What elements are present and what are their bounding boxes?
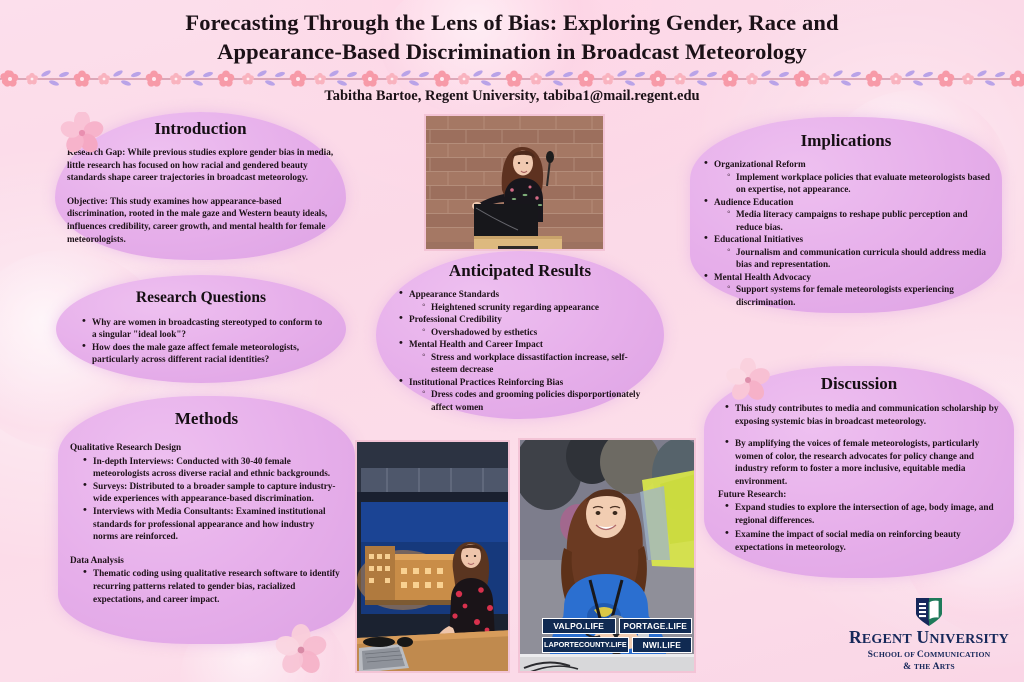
- list-item-label: Audience Education: [714, 197, 793, 207]
- introduction-title: Introduction: [55, 119, 346, 139]
- page-title-line-1: Forecasting Through the Lens of Bias: Ex…: [112, 8, 912, 37]
- logo-university-name: REGENT UNIVERSITY: [846, 628, 1012, 649]
- discussion-title: Discussion: [704, 374, 1014, 394]
- logo-sub2-rts: RTS: [940, 662, 955, 671]
- list-item-label: Institutional Practices Reinforcing Bias: [409, 377, 563, 387]
- sub-list: Media literacy campaigns to reshape publ…: [727, 208, 992, 233]
- methods-section-1-heading: Qualitative Research Design: [70, 441, 341, 454]
- methods-body: Qualitative Research Design In-depth Int…: [58, 429, 355, 605]
- page-title-line-2: Appearance-Based Discrimination in Broad…: [112, 37, 912, 66]
- author-line: Tabitha Bartoe, Regent University, tabib…: [0, 88, 1024, 105]
- anticipated-results-list: Appearance Standards Heightened scrunity…: [399, 288, 648, 413]
- sub-list-item: Implement workplace policies that evalua…: [727, 171, 992, 196]
- panel-introduction: Introduction Research Gap: While previou…: [55, 112, 346, 260]
- list-item: Surveys: Distributed to a broader sample…: [83, 480, 341, 505]
- introduction-body: Research Gap: While previous studies exp…: [55, 139, 346, 245]
- panel-anticipated-results: Anticipated Results Appearance Standards…: [376, 251, 664, 419]
- logo-sub2-a: A: [933, 661, 940, 672]
- logo-name-u: U: [916, 627, 929, 647]
- list-item-label: Organizational Reform: [714, 159, 806, 169]
- photo-news-desk-anchor: [355, 440, 510, 673]
- sub-list-item: Dress codes and grooming policies dispor…: [422, 388, 648, 413]
- methods-section-2-heading: Data Analysis: [70, 554, 341, 567]
- list-item-label: Professional Credibility: [409, 314, 502, 324]
- sub-list: Stress and workplace dissastifaction inc…: [422, 351, 648, 376]
- sub-list: Dress codes and grooming policies dispor…: [422, 388, 648, 413]
- research-questions-body: Why are women in broadcasting stereotype…: [56, 307, 346, 366]
- anticipated-results-title: Anticipated Results: [376, 261, 664, 281]
- logo-name-r: R: [849, 627, 862, 647]
- list-item: Thematic coding using qualitative resear…: [83, 567, 341, 605]
- floral-divider: [0, 67, 1024, 89]
- research-questions-list: Why are women in broadcasting stereotype…: [82, 316, 324, 366]
- logo-sub1-chool-of: CHOOL OF: [873, 650, 917, 659]
- sub-list: Support systems for female meteorologist…: [727, 283, 992, 308]
- news-logo-portage: PORTAGE.LIFE: [619, 618, 693, 634]
- implications-list: Organizational Reform Implement workplac…: [704, 158, 992, 308]
- news-station-logos: VALPO.LIFE PORTAGE.LIFE LAPORTECOUNTY.LI…: [542, 618, 692, 653]
- list-item-label: Appearance Standards: [409, 289, 499, 299]
- list-item-label: Mental Health Advocacy: [714, 272, 811, 282]
- regent-university-logo: REGENT UNIVERSITY SCHOOL OF COMMUNICATIO…: [846, 596, 1012, 673]
- sub-list-item: Stress and workplace dissastifaction inc…: [422, 351, 648, 376]
- sub-list: Journalism and communication curricula s…: [727, 246, 992, 271]
- list-item: Mental Health Advocacy Support systems f…: [704, 271, 992, 309]
- panel-methods: Methods Qualitative Research Design In-d…: [58, 396, 355, 644]
- research-poster: Forecasting Through the Lens of Bias: Ex…: [0, 0, 1024, 682]
- future-research-list: Expand studies to explore the intersecti…: [725, 501, 1000, 553]
- list-item: Interviews with Media Consultants: Exami…: [83, 505, 341, 543]
- implications-body: Organizational Reform Implement workplac…: [690, 151, 1002, 308]
- list-item: Professional Credibility Overshadowed by…: [399, 313, 648, 338]
- logo-sub2-amp: &: [903, 661, 914, 672]
- discussion-body: This study contributes to media and comm…: [704, 394, 1014, 554]
- list-item: Institutional Practices Reinforcing Bias…: [399, 376, 648, 414]
- list-item: Examine the impact of social media on re…: [725, 528, 1000, 553]
- list-item-label: Educational Initiatives: [714, 234, 803, 244]
- sub-list: Overshadowed by esthetics: [422, 326, 648, 339]
- list-item: Mental Health and Career Impact Stress a…: [399, 338, 648, 376]
- list-item: In-depth Interviews: Conducted with 30-4…: [83, 455, 341, 480]
- photo-field-reporter: VALPO.LIFE PORTAGE.LIFE LAPORTECOUNTY.LI…: [518, 438, 696, 673]
- news-logo-laportecounty: LAPORTECOUNTY.LIFE: [542, 637, 629, 653]
- sub-list-item: Journalism and communication curricula s…: [727, 246, 992, 271]
- list-item: This study contributes to media and comm…: [725, 402, 1000, 427]
- implications-title: Implications: [690, 131, 1002, 151]
- logo-sub1-c: C: [917, 649, 924, 660]
- discussion-list: This study contributes to media and comm…: [725, 402, 1000, 488]
- list-item: Expand studies to explore the intersecti…: [725, 501, 1000, 526]
- panel-research-questions: Research Questions Why are women in broa…: [56, 275, 346, 383]
- floral-divider-icon: [0, 67, 1024, 89]
- methods-section-2-list: Thematic coding using qualitative resear…: [83, 567, 341, 605]
- methods-title: Methods: [58, 409, 355, 429]
- logo-arts-line: & THE ARTS: [846, 661, 1012, 673]
- sub-list-item: Media literacy campaigns to reshape publ…: [727, 208, 992, 233]
- sub-list-item: Heightened scrunity regarding appearance: [422, 301, 648, 314]
- logo-sub2-the: THE: [914, 662, 933, 671]
- methods-section-1-list: In-depth Interviews: Conducted with 30-4…: [83, 455, 341, 543]
- sub-list-item: Support systems for female meteorologist…: [727, 283, 992, 308]
- photo-presenter-at-podium: [424, 114, 605, 251]
- research-questions-title: Research Questions: [56, 289, 346, 307]
- logo-sub1-ommunication: OMMUNICATION: [924, 650, 990, 659]
- introduction-paragraph-1: Research Gap: While previous studies exp…: [67, 146, 334, 184]
- future-research-heading: Future Research:: [718, 488, 1000, 501]
- list-item: Why are women in broadcasting stereotype…: [82, 316, 324, 341]
- sub-list: Heightened scrunity regarding appearance: [422, 301, 648, 314]
- sub-list-item: Overshadowed by esthetics: [422, 326, 648, 339]
- logo-name-egent: EGENT: [862, 632, 912, 647]
- list-item: Organizational Reform Implement workplac…: [704, 158, 992, 196]
- news-logo-nwi: NWI.LIFE: [632, 637, 692, 653]
- logo-name-niversity: NIVERSITY: [929, 632, 1009, 647]
- regent-shield-icon: [846, 596, 1012, 628]
- panel-implications: Implications Organizational Reform Imple…: [690, 117, 1002, 313]
- anticipated-results-body: Appearance Standards Heightened scrunity…: [376, 281, 664, 413]
- poster-header: Forecasting Through the Lens of Bias: Ex…: [0, 0, 1024, 110]
- introduction-paragraph-2: Objective: This study examines how appea…: [67, 195, 334, 245]
- list-item: By amplifying the voices of female meteo…: [725, 437, 1000, 487]
- list-item: How does the male gaze affect female met…: [82, 341, 324, 366]
- list-item: Appearance Standards Heightened scrunity…: [399, 288, 648, 313]
- page-title: Forecasting Through the Lens of Bias: Ex…: [112, 8, 912, 66]
- list-item-label: Mental Health and Career Impact: [409, 339, 543, 349]
- logo-school-line: SCHOOL OF COMMUNICATION: [846, 649, 1012, 661]
- panel-discussion: Discussion This study contributes to med…: [704, 366, 1014, 578]
- list-item: Audience Education Media literacy campai…: [704, 196, 992, 234]
- news-logo-valpo: VALPO.LIFE: [542, 618, 616, 634]
- sub-list: Implement workplace policies that evalua…: [727, 171, 992, 196]
- list-item: Educational Initiatives Journalism and c…: [704, 233, 992, 271]
